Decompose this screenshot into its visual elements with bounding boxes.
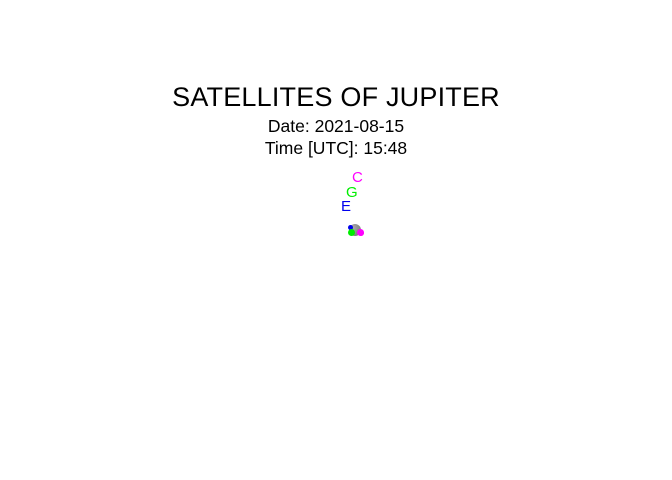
moon-dot-callisto	[357, 229, 364, 236]
moon-label-europa: E	[341, 199, 351, 214]
moon-label-callisto: C	[352, 170, 363, 185]
jupiter-system-plot: C G E	[0, 0, 672, 480]
star-chart-canvas: SATELLITES OF JUPITER Date: 2021-08-15 T…	[0, 0, 672, 480]
moon-dot-ganymede	[348, 229, 355, 236]
